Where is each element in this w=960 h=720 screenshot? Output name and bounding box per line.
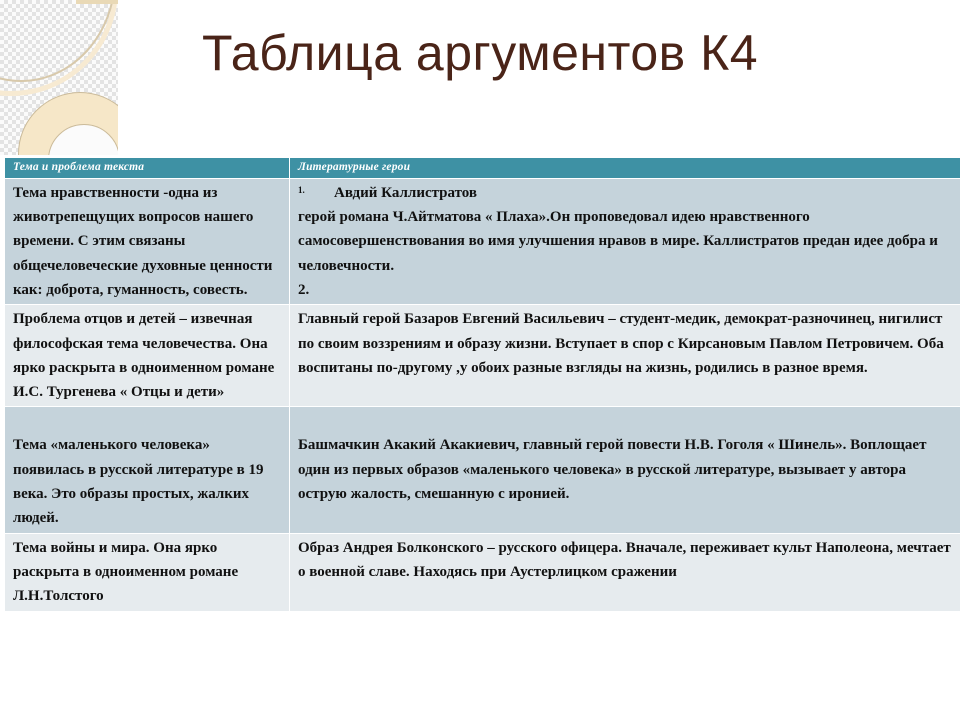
cell-heroes-2: Главный герой Базаров Евгений Васильевич… [290, 305, 960, 407]
table-header-row: Тема и проблема текста Литературные геро… [5, 158, 960, 179]
cell-heroes-3: Башмачкин Акакий Акакиевич, главный геро… [290, 407, 960, 533]
table-row: Тема войны и мира. Она ярко раскрыта в о… [5, 533, 960, 611]
cell-theme-1: Тема нравственности -одна из животрепещу… [5, 178, 290, 304]
spacer-line [13, 409, 283, 433]
hero-description-1: герой романа Ч.Айтматова « Плаха».Он про… [298, 205, 954, 278]
hero-name-1: Авдий Каллистратов [334, 181, 954, 205]
cell-heroes-4: Образ Андрея Болконского – русского офиц… [290, 533, 960, 611]
table-row: Тема нравственности -одна из животрепещу… [5, 178, 960, 304]
column-header-theme: Тема и проблема текста [5, 158, 290, 179]
column-header-heroes: Литературные герои [290, 158, 960, 179]
list-marker-2: 2. [298, 282, 309, 298]
cell-heroes-3-text: Башмачкин Акакий Акакиевич, главный геро… [298, 433, 954, 506]
list-marker-1: 1. [298, 183, 305, 198]
cell-theme-4: Тема войны и мира. Она ярко раскрыта в о… [5, 533, 290, 611]
arguments-table: Тема и проблема текста Литературные геро… [4, 157, 960, 612]
decorative-bar [76, 0, 118, 4]
table-row: Проблема отцов и детей – извечная филосо… [5, 305, 960, 407]
slide-title: Таблица аргументов К4 [0, 24, 960, 82]
hero-entry-1: 1. Авдий Каллистратов [298, 181, 954, 205]
table-row: Тема «маленького человека» появилась в р… [5, 407, 960, 533]
cell-heroes-1: 1. Авдий Каллистратов герой романа Ч.Айт… [290, 178, 960, 304]
cell-theme-3: Тема «маленького человека» появилась в р… [5, 407, 290, 533]
cell-theme-2: Проблема отцов и детей – извечная филосо… [5, 305, 290, 407]
cell-theme-3-text: Тема «маленького человека» появилась в р… [13, 433, 283, 530]
spacer-line [298, 409, 954, 433]
